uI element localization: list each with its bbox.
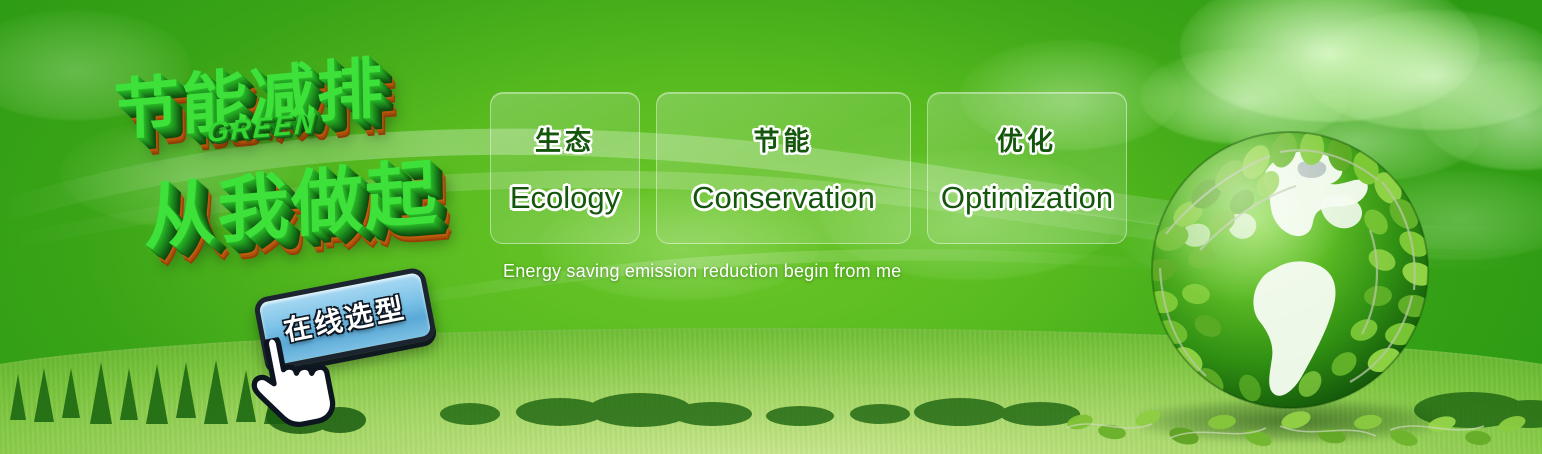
hand-pointer-icon [239, 328, 346, 439]
feature-card-en-label: Ecology [510, 180, 620, 216]
cloud-shape [1300, 10, 1542, 130]
headline-line-2: 从我做起 [143, 133, 440, 264]
hero-headline: 节能减排 GREEN 从我做起 [95, 38, 495, 268]
feature-card-cn-label: 节能 [753, 121, 813, 158]
feature-card-en-label: Optimization [941, 180, 1113, 216]
feature-card-conservation[interactable]: 节能 Conservation [656, 92, 911, 244]
feature-card-ecology[interactable]: 生态 Ecology [490, 92, 640, 244]
feature-card-list: 生态 Ecology 节能 Conservation 优化 Optimizati… [490, 92, 1127, 244]
feature-card-cn-label: 生态 [535, 121, 595, 158]
eco-hero-banner: 节能减排 GREEN 从我做起 在线选型 生态 Ecology 节能 Conse… [0, 0, 1542, 454]
green-leaf-globe-icon [1130, 118, 1450, 436]
banner-tagline: Energy saving emission reduction begin f… [503, 261, 901, 282]
leaf-globe-graphic [1130, 118, 1450, 436]
feature-card-cn-label: 优化 [997, 121, 1057, 158]
feature-card-en-label: Conservation [692, 180, 875, 216]
feature-card-optimization[interactable]: 优化 Optimization [927, 92, 1127, 244]
cloud-shape [1180, 0, 1480, 122]
